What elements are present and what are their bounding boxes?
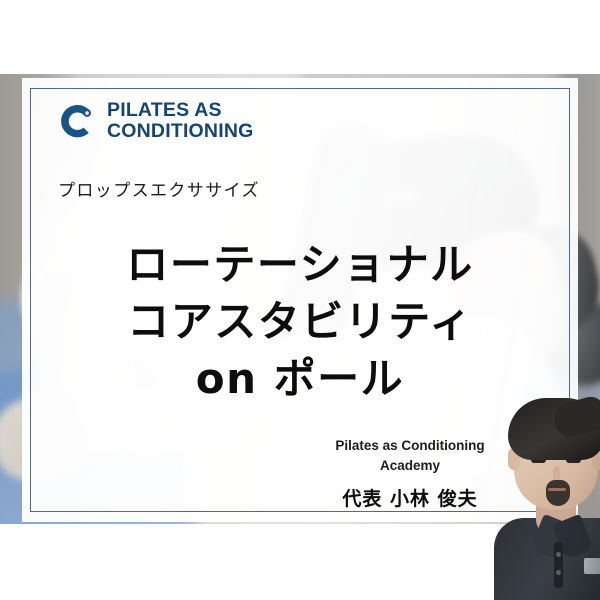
presenter-button-bottom [556, 570, 561, 575]
presenter-placket [554, 542, 563, 588]
presenter-mouth [548, 488, 566, 491]
slide-canvas: STR Str PILATES AS CONDITIONING プロップスエクサ… [0, 0, 600, 600]
title-line-1: ローテーショナル [30, 236, 570, 293]
presenter-button-top [556, 552, 561, 557]
credit-block: Pilates as Conditioning Academy 代表 小林 俊夫 [300, 436, 520, 511]
title-line-3: on ポール [30, 350, 570, 407]
brand-lockup: PILATES AS CONDITIONING [58, 100, 253, 141]
presenter-goatee [546, 480, 570, 506]
credit-presenter-name: 代表 小林 俊夫 [300, 484, 520, 511]
presenter-portrait [492, 392, 600, 600]
title-line-2: コアスタビリティ [30, 293, 570, 350]
presenter-shirt-logo [584, 558, 600, 574]
eyebrow-label: プロップスエクササイズ [58, 176, 260, 201]
pilates-circle-c-icon [58, 102, 96, 140]
brand-name: PILATES AS CONDITIONING [107, 100, 253, 141]
page-title: ローテーショナル コアスタビリティ on ポール [30, 236, 570, 407]
credit-organization: Pilates as Conditioning Academy [300, 436, 520, 475]
slide-content: PILATES AS CONDITIONING プロップスエクササイズ ローテー… [0, 0, 600, 600]
